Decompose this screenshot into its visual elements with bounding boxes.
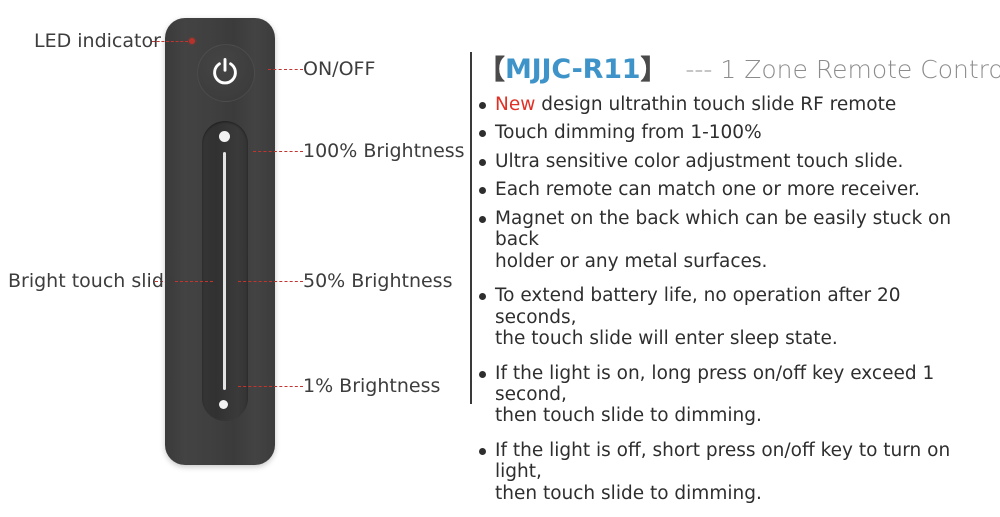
bullet-text-line2: then touch slide to dimming.	[495, 483, 978, 504]
slide-max-indicator-dot	[219, 131, 230, 142]
power-icon	[211, 57, 239, 87]
model-code: MJJC-R11	[505, 54, 640, 85]
feature-bullet-item: Ultra sensitive color adjustment touch s…	[478, 151, 978, 172]
callout-led-indicator: LED indicator	[34, 32, 161, 51]
bullet-text: design ultrathin touch slide RF remote	[535, 94, 896, 115]
callout-on-off: ON/OFF	[303, 60, 375, 79]
bullet-text: If the light is on, long press on/off ke…	[495, 363, 934, 405]
bullet-highlight-text: New	[495, 94, 535, 115]
bullet-text: If the light is off, short press on/off …	[495, 440, 950, 482]
leader-line-on-off	[268, 69, 303, 70]
bullet-text: Magnet on the back which can be easily s…	[495, 208, 951, 250]
bullet-text-line2: holder or any metal surfaces.	[495, 251, 978, 272]
bullet-text: To extend battery life, no operation aft…	[495, 285, 901, 327]
slide-min-indicator-dot	[219, 400, 228, 409]
feature-bullet-item: To extend battery life, no operation aft…	[478, 285, 978, 349]
feature-bullet-item: New design ultrathin touch slide RF remo…	[478, 94, 978, 115]
bullet-text-line2: the touch slide will enter sleep state.	[495, 328, 978, 349]
feature-bullet-item: If the light is on, long press on/off ke…	[478, 363, 978, 427]
led-indicator-light	[189, 38, 195, 44]
bullet-text: Each remote can match one or more receiv…	[495, 179, 920, 200]
bracket-close-glyph: 】	[640, 55, 667, 86]
callout-bright-touch-slide: Bright touch slide	[8, 272, 176, 291]
feature-bullet-item: If the light is off, short press on/off …	[478, 440, 978, 504]
bracket-open-glyph: 【	[478, 55, 505, 86]
leader-line-1-brightness	[238, 386, 303, 387]
feature-bullet-item: Each remote can match one or more receiv…	[478, 179, 978, 200]
bullet-text: Ultra sensitive color adjustment touch s…	[495, 151, 903, 172]
leader-line-100-brightness	[253, 151, 303, 152]
callout-50-brightness: 50% Brightness	[303, 272, 452, 291]
leader-line-50-brightness	[238, 281, 303, 282]
vertical-divider	[470, 52, 472, 404]
product-diagram: LED indicator ON/OFF 100% Brightness Bri…	[0, 0, 460, 505]
bullet-text-line2: then touch slide to dimming.	[495, 405, 978, 426]
spec-header: 【MJJC-R11】--- 1 Zone Remote Control	[478, 48, 1000, 87]
touch-slide-track-line	[223, 152, 226, 390]
callout-1-brightness: 1% Brightness	[303, 377, 440, 396]
feature-bullet-item: Touch dimming from 1-100%	[478, 122, 978, 143]
header-tagline: --- 1 Zone Remote Control	[685, 55, 1000, 84]
callout-100-brightness: 100% Brightness	[303, 142, 465, 161]
feature-bullet-item: Magnet on the back which can be easily s…	[478, 208, 978, 272]
feature-bullet-list: New design ultrathin touch slide RF remo…	[478, 94, 978, 517]
bullet-text: Touch dimming from 1-100%	[495, 122, 762, 143]
